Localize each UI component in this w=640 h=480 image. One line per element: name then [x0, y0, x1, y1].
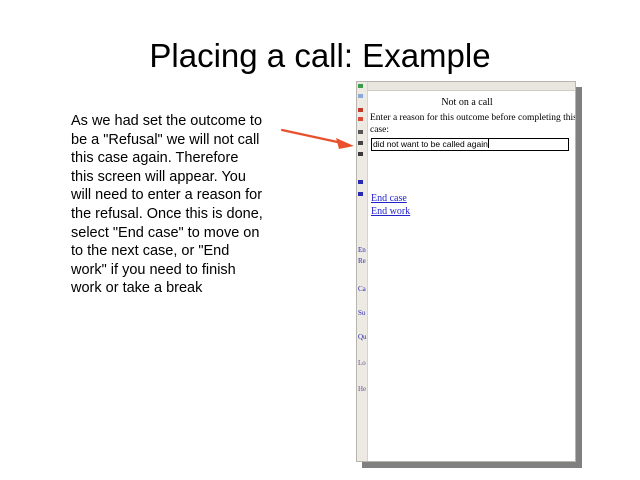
app-content-area: Not on a call Enter a reason for this ou…	[369, 92, 575, 461]
sidebar-fragment	[358, 192, 363, 196]
action-links: End case End work	[371, 193, 410, 218]
reason-instruction-text: Enter a reason for this outcome before c…	[370, 113, 576, 136]
sidebar-fragment	[358, 117, 363, 121]
reason-input[interactable]: did not want to be called again	[371, 138, 569, 151]
sidebar-fragment	[358, 84, 363, 88]
arrow-shaft	[282, 130, 342, 143]
page-title: Placing a call: Example	[0, 36, 640, 76]
sidebar-fragment	[358, 180, 363, 184]
end-case-link[interactable]: End case	[371, 193, 410, 206]
presentation-slide: Placing a call: Example As we had set th…	[0, 0, 640, 480]
embedded-app-screenshot: En Re Ca Su Qu Lo He Not on a call Enter…	[356, 81, 576, 462]
sidebar-fragment	[358, 152, 363, 156]
sidebar-link-stub[interactable]: He	[358, 386, 367, 393]
sidebar-link-stub[interactable]: Qu	[358, 334, 367, 341]
text-caret	[488, 139, 489, 148]
sidebar-fragment	[358, 108, 363, 112]
slide-body-text: As we had set the outcome to be a "Refus…	[71, 112, 263, 298]
sidebar-fragment	[358, 141, 363, 145]
sidebar-link-stub[interactable]: Su	[358, 310, 367, 317]
pointer-arrow-icon	[276, 122, 360, 156]
browser-toolbar-strip	[357, 82, 575, 91]
sidebar-fragment	[358, 130, 363, 134]
reason-input-value: did not want to be called again	[373, 139, 488, 149]
clipped-nav-sidebar: En Re Ca Su Qu Lo He	[357, 82, 368, 461]
sidebar-fragment	[358, 94, 363, 98]
arrow-head	[336, 138, 354, 149]
sidebar-link-stub[interactable]: Ca	[358, 286, 367, 293]
sidebar-link-stub[interactable]: Lo	[358, 360, 367, 367]
sidebar-link-stub[interactable]: En	[358, 247, 367, 254]
end-work-link[interactable]: End work	[371, 206, 410, 219]
app-status-heading: Not on a call	[369, 97, 565, 108]
sidebar-link-stub[interactable]: Re	[358, 258, 367, 265]
